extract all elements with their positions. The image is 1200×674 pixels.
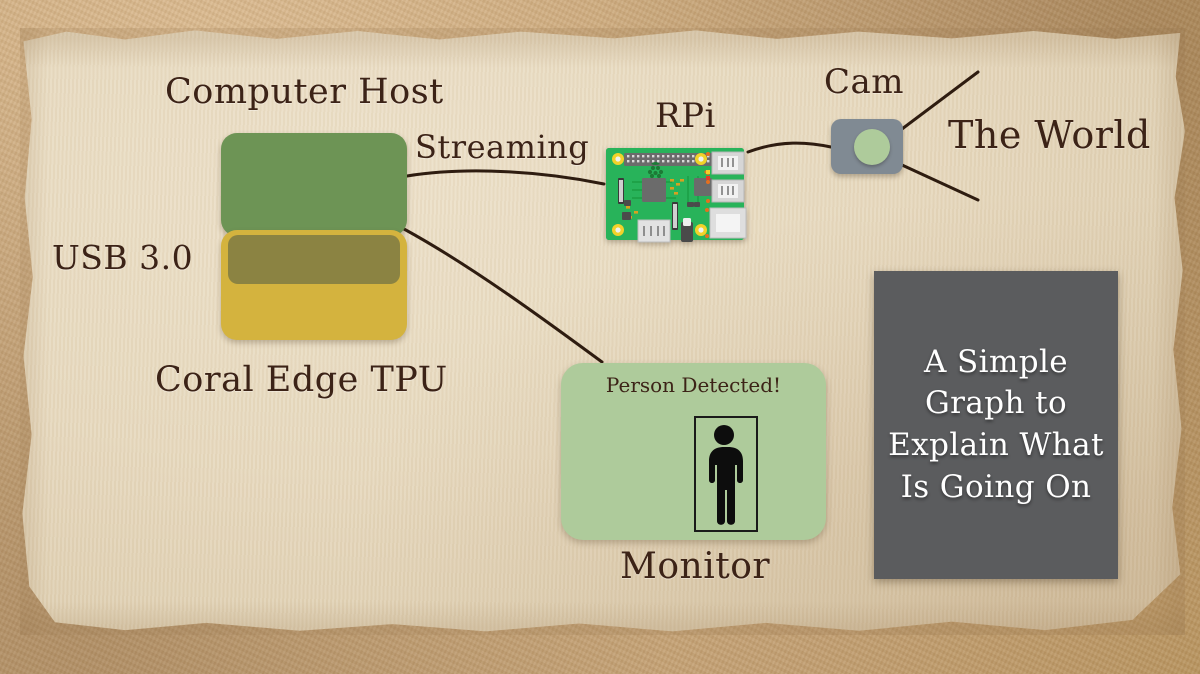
label-coral-edge-tpu: Coral Edge TPU bbox=[155, 360, 448, 400]
slide-canvas: Computer Host Streaming USB 3.0 Coral Ed… bbox=[0, 0, 1200, 674]
connector-rpi-to-camera bbox=[748, 143, 831, 152]
label-the-world: The World bbox=[948, 113, 1151, 157]
caption-line-3: Explain What bbox=[888, 426, 1104, 466]
connector-host-to-monitor bbox=[404, 229, 602, 362]
caption-panel: A Simple Graph to Explain What Is Going … bbox=[874, 271, 1118, 579]
computer-host-box[interactable] bbox=[221, 133, 407, 236]
connector-camera-world-lower bbox=[902, 165, 978, 200]
label-cam: Cam bbox=[824, 62, 904, 102]
camera-lens-icon bbox=[854, 129, 890, 165]
label-streaming: Streaming bbox=[415, 128, 589, 166]
person-detected-alert: Person Detected! bbox=[561, 373, 826, 397]
raspberry-pi-board[interactable] bbox=[602, 142, 754, 252]
connector-host-to-rpi bbox=[407, 171, 604, 184]
usb-overlap-region bbox=[228, 235, 400, 284]
caption-line-2: Graph to bbox=[925, 384, 1067, 424]
label-monitor: Monitor bbox=[620, 546, 770, 587]
label-usb-3-0: USB 3.0 bbox=[52, 238, 193, 277]
caption-line-4: Is Going On bbox=[901, 468, 1092, 508]
label-rpi: RPi bbox=[655, 96, 716, 136]
detection-bounding-box bbox=[694, 416, 758, 532]
caption-line-1: A Simple bbox=[924, 343, 1068, 383]
label-computer-host: Computer Host bbox=[165, 72, 444, 112]
